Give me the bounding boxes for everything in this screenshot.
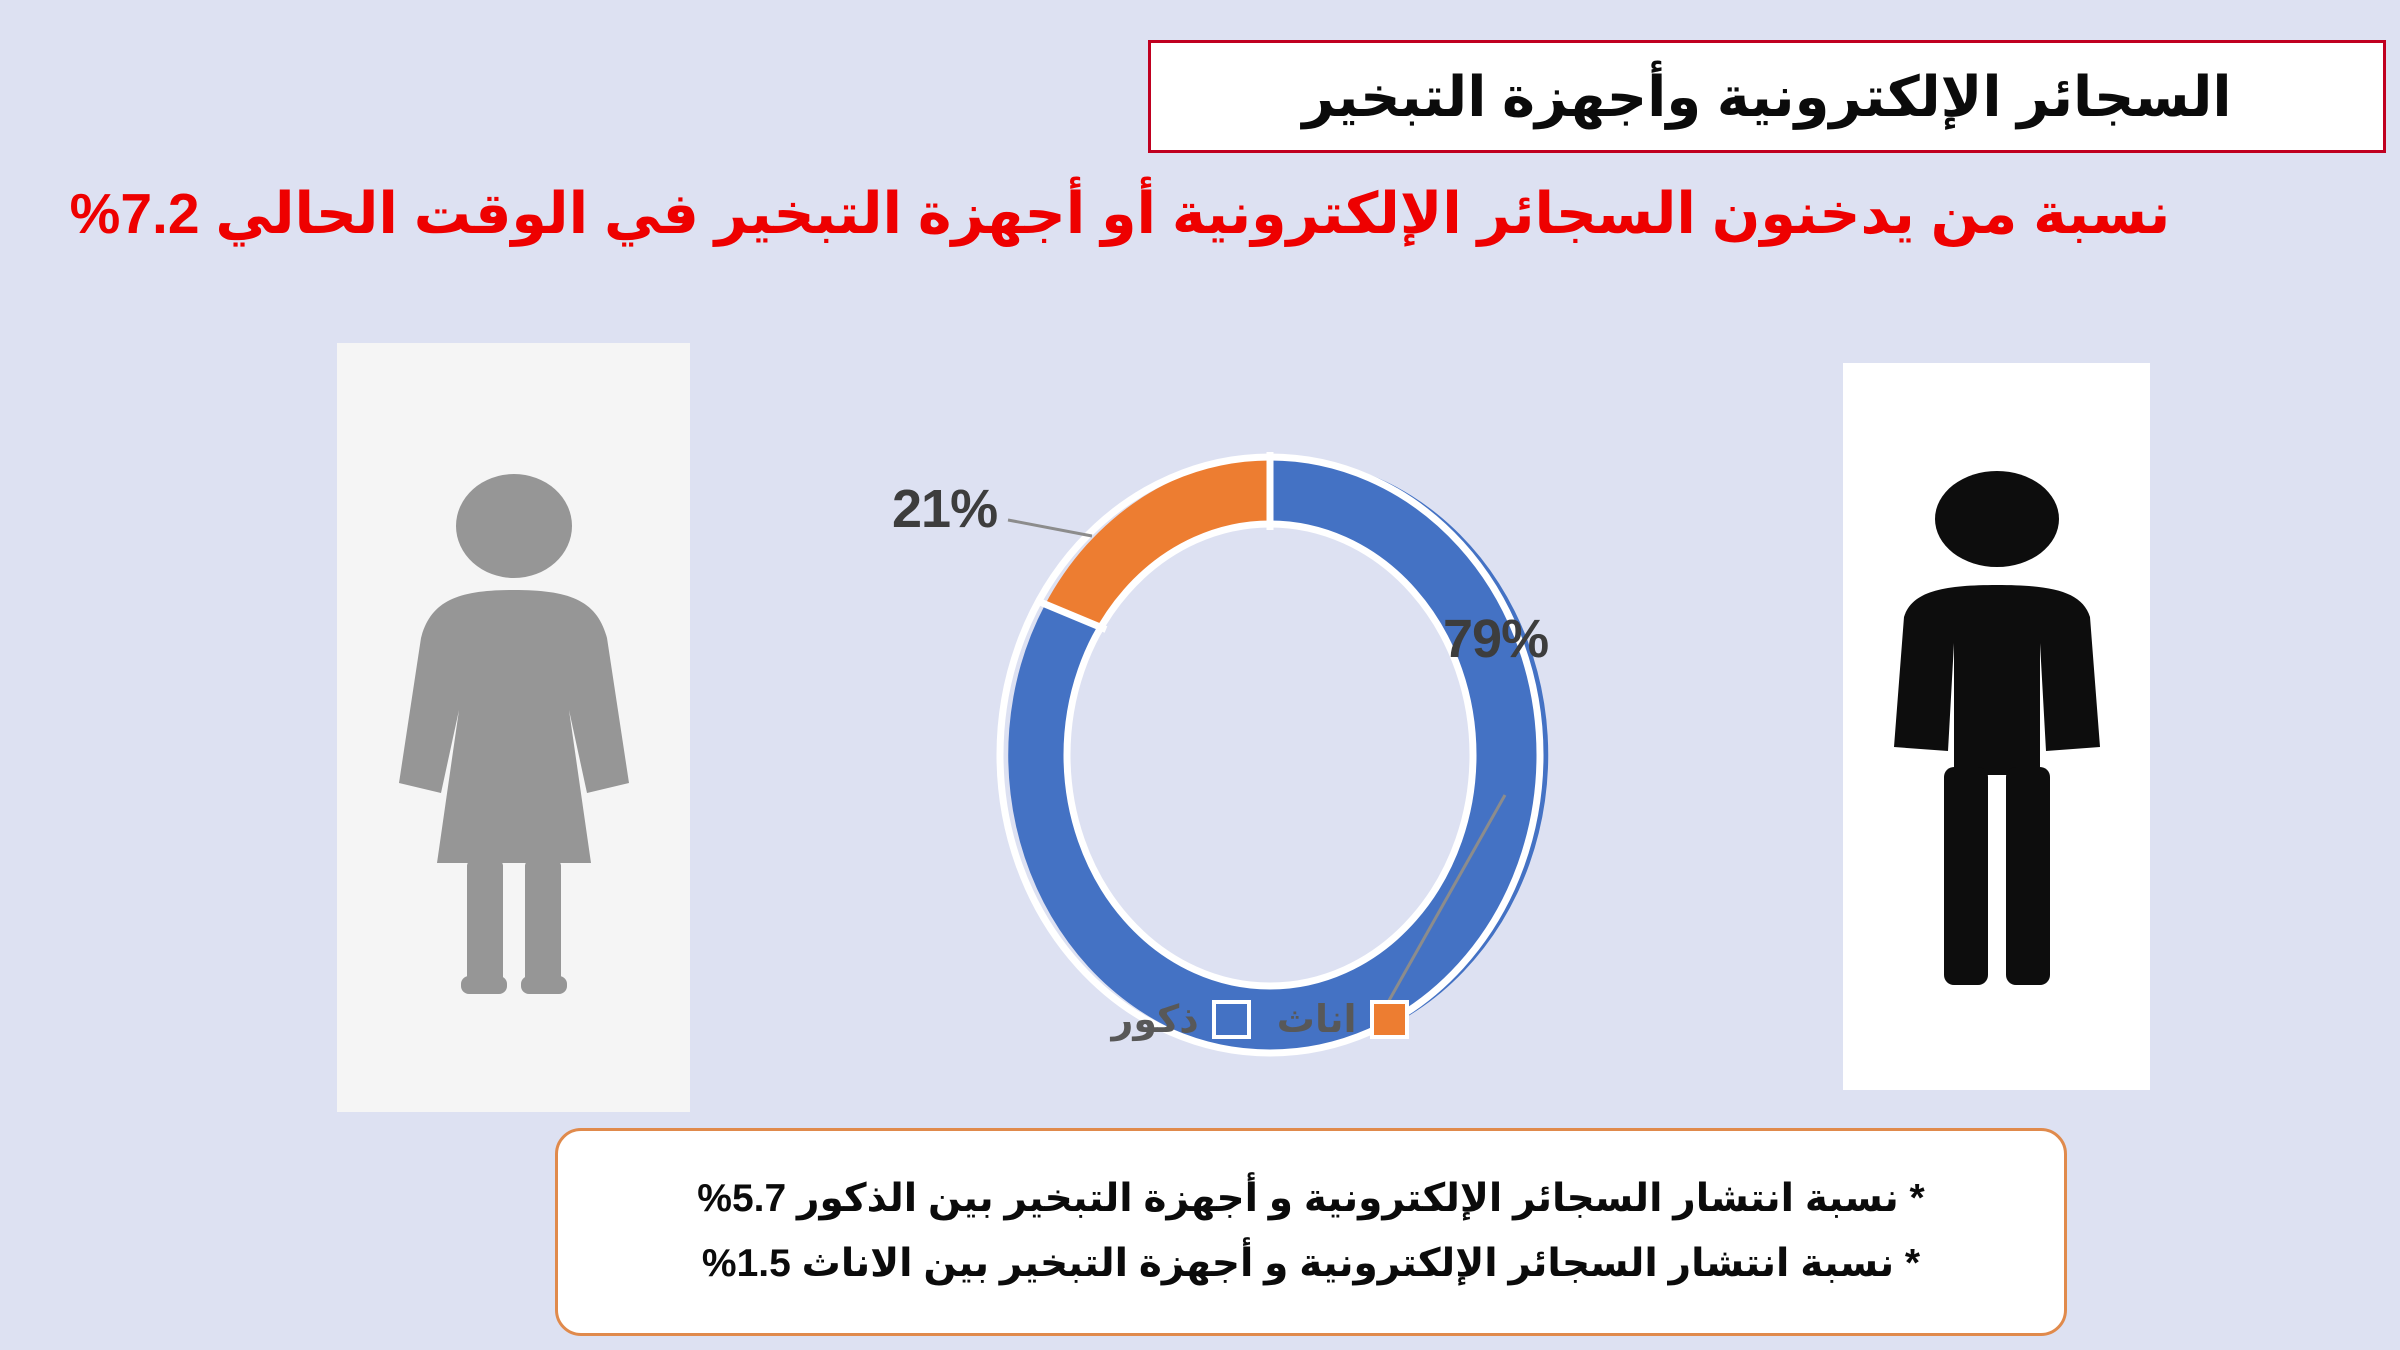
male-figure-panel	[1843, 363, 2150, 1090]
legend-label-females: اناث	[1277, 1001, 1357, 1039]
donut-label-females: 21%	[892, 478, 997, 540]
page-title: السجائر الإلكترونية وأجهزة التبخير	[1185, 66, 2349, 128]
footnote-box: * نسبة انتشار السجائر الإلكترونية و أجهز…	[555, 1128, 2067, 1336]
legend-label-males: ذكور	[1111, 1001, 1198, 1039]
legend-swatch-females-icon	[1370, 1000, 1409, 1039]
donut-label-males: 79%	[1443, 608, 1548, 670]
donut-chart: 21% 79%	[860, 400, 1680, 1080]
male-figure-icon	[1882, 457, 2112, 997]
chart-legend: اناث ذكور	[1090, 1000, 1430, 1039]
slide-canvas: السجائر الإلكترونية وأجهزة التبخير نسبة …	[0, 0, 2400, 1350]
legend-item-females[interactable]: اناث	[1277, 1000, 1409, 1039]
leader-line-21	[1008, 520, 1092, 536]
footnote-line-males: * نسبة انتشار السجائر الإلكترونية و أجهز…	[697, 1177, 1924, 1222]
female-figure-panel	[337, 343, 690, 1112]
legend-item-males[interactable]: ذكور	[1111, 1000, 1250, 1039]
female-figure-icon	[389, 448, 639, 1008]
legend-swatch-males-icon	[1212, 1000, 1251, 1039]
subtitle-headline: نسبة من يدخنون السجائر الإلكترونية أو أج…	[60, 182, 2180, 248]
slide-title-box: السجائر الإلكترونية وأجهزة التبخير	[1148, 40, 2386, 153]
footnote-line-females: * نسبة انتشار السجائر الإلكترونية و أجهز…	[702, 1242, 1920, 1287]
